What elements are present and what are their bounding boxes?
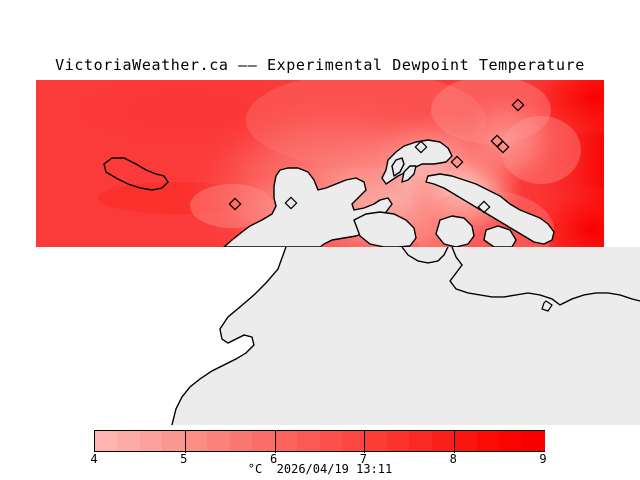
colorbar-segment <box>364 431 387 451</box>
colorbar-tick <box>364 431 365 453</box>
colorbar-tick-label: 8 <box>450 452 457 466</box>
lower-coastline <box>0 247 640 427</box>
colorbar-segment <box>95 431 118 451</box>
colorbar-gradient <box>94 430 545 452</box>
colorbar-tick-label: 4 <box>90 452 97 466</box>
colorbar-segment <box>522 431 545 451</box>
colorbar-segment <box>185 431 208 451</box>
dewpoint-map[interactable] <box>36 80 604 247</box>
colorbar-tick-label: 7 <box>360 452 367 466</box>
colorbar-tick <box>275 431 276 453</box>
colorbar-segment <box>140 431 163 451</box>
colorbar-segment <box>297 431 320 451</box>
colorbar-segment <box>499 431 522 451</box>
colorbar-segment <box>409 431 432 451</box>
colorbar-segment <box>320 431 343 451</box>
colorbar-segment <box>454 431 477 451</box>
colorbar-segment <box>477 431 500 451</box>
colorbar-segment <box>207 431 230 451</box>
colorbar-segment <box>162 431 185 451</box>
colorbar-segment <box>275 431 298 451</box>
landmass-lower <box>0 247 640 427</box>
colorbar-segment <box>432 431 455 451</box>
colorbar-tick-label: 5 <box>180 452 187 466</box>
colorbar-segment <box>342 431 365 451</box>
dewpoint-field <box>36 80 604 247</box>
colorbar-segment <box>252 431 275 451</box>
colorbar-tick-label: 9 <box>539 452 546 466</box>
colorbar[interactable] <box>94 430 545 452</box>
colorbar-tick-label: 6 <box>270 452 277 466</box>
colorbar-segment <box>230 431 253 451</box>
colorbar-segment <box>387 431 410 451</box>
colorbar-segment <box>117 431 140 451</box>
page-title: VictoriaWeather.ca —— Experimental Dewpo… <box>0 56 640 74</box>
colorbar-tick <box>185 431 186 453</box>
colorbar-tick <box>454 431 455 453</box>
